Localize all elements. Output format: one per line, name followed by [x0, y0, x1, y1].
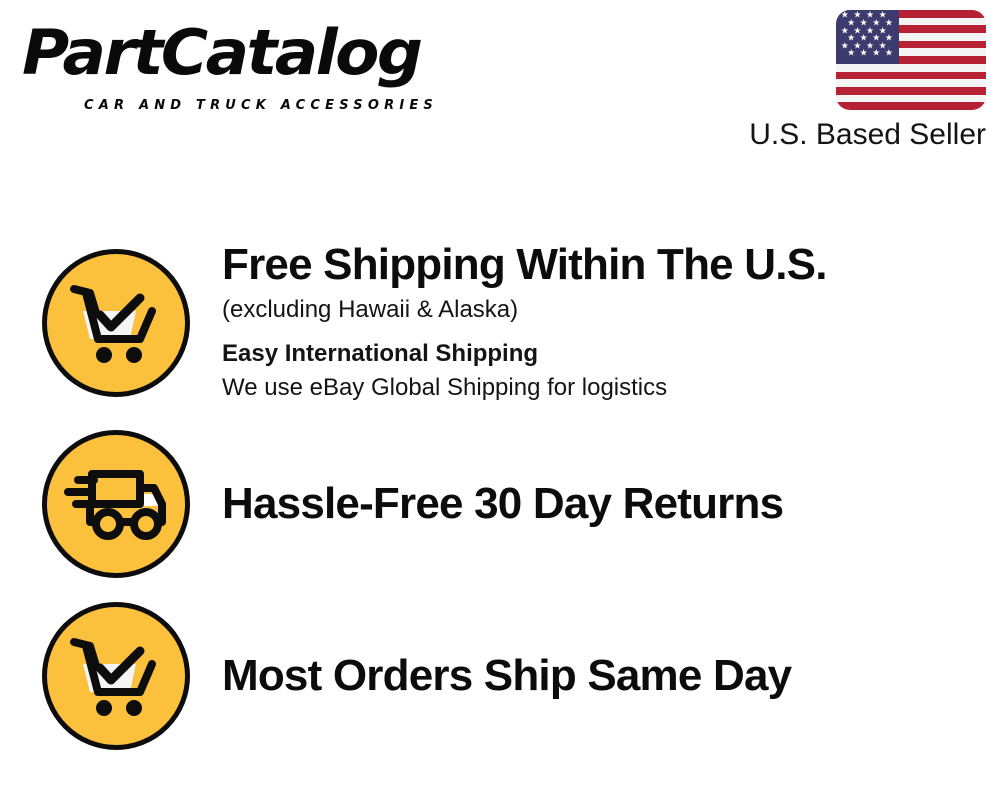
shopping-cart-check-icon: [42, 249, 190, 397]
feature-text: Free Shipping Within The U.S. (excluding…: [222, 241, 1000, 405]
feature-row: Most Orders Ship Same Day: [0, 590, 1000, 762]
feature-title: Hassle-Free 30 Day Returns: [222, 480, 980, 528]
us-flag-icon: ★ ★ ★ ★ ★ ★ ★ ★ ★ ★ ★ ★ ★ ★ ★ ★ ★ ★ ★ ★: [836, 10, 986, 110]
delivery-truck-icon: [42, 430, 190, 578]
brand-logo: PartCatalog CAR AND TRUCK ACCESSORIES: [22, 22, 492, 112]
feature-text: Most Orders Ship Same Day: [222, 652, 1000, 700]
feature-subtitle-detail: We use eBay Global Shipping for logistic…: [222, 371, 980, 405]
brand-wordmark: PartCatalog: [22, 22, 420, 84]
feature-title: Most Orders Ship Same Day: [222, 652, 980, 700]
feature-subtitle: (excluding Hawaii & Alaska): [222, 293, 980, 327]
promo-banner: PartCatalog CAR AND TRUCK ACCESSORIES ★ …: [0, 0, 1000, 800]
shopping-cart-check-icon: [42, 602, 190, 750]
feature-row: Hassle-Free 30 Day Returns: [0, 418, 1000, 590]
feature-row: Free Shipping Within The U.S. (excluding…: [0, 228, 1000, 418]
brand-tagline: CAR AND TRUCK ACCESSORIES: [84, 98, 438, 113]
feature-subtitle-strong: Easy International Shipping: [222, 337, 980, 371]
feature-text: Hassle-Free 30 Day Returns: [222, 480, 1000, 528]
seller-badge-label: U.S. Based Seller: [686, 118, 986, 152]
seller-badge: ★ ★ ★ ★ ★ ★ ★ ★ ★ ★ ★ ★ ★ ★ ★ ★ ★ ★ ★ ★: [686, 10, 986, 152]
feature-title: Free Shipping Within The U.S.: [222, 241, 980, 289]
